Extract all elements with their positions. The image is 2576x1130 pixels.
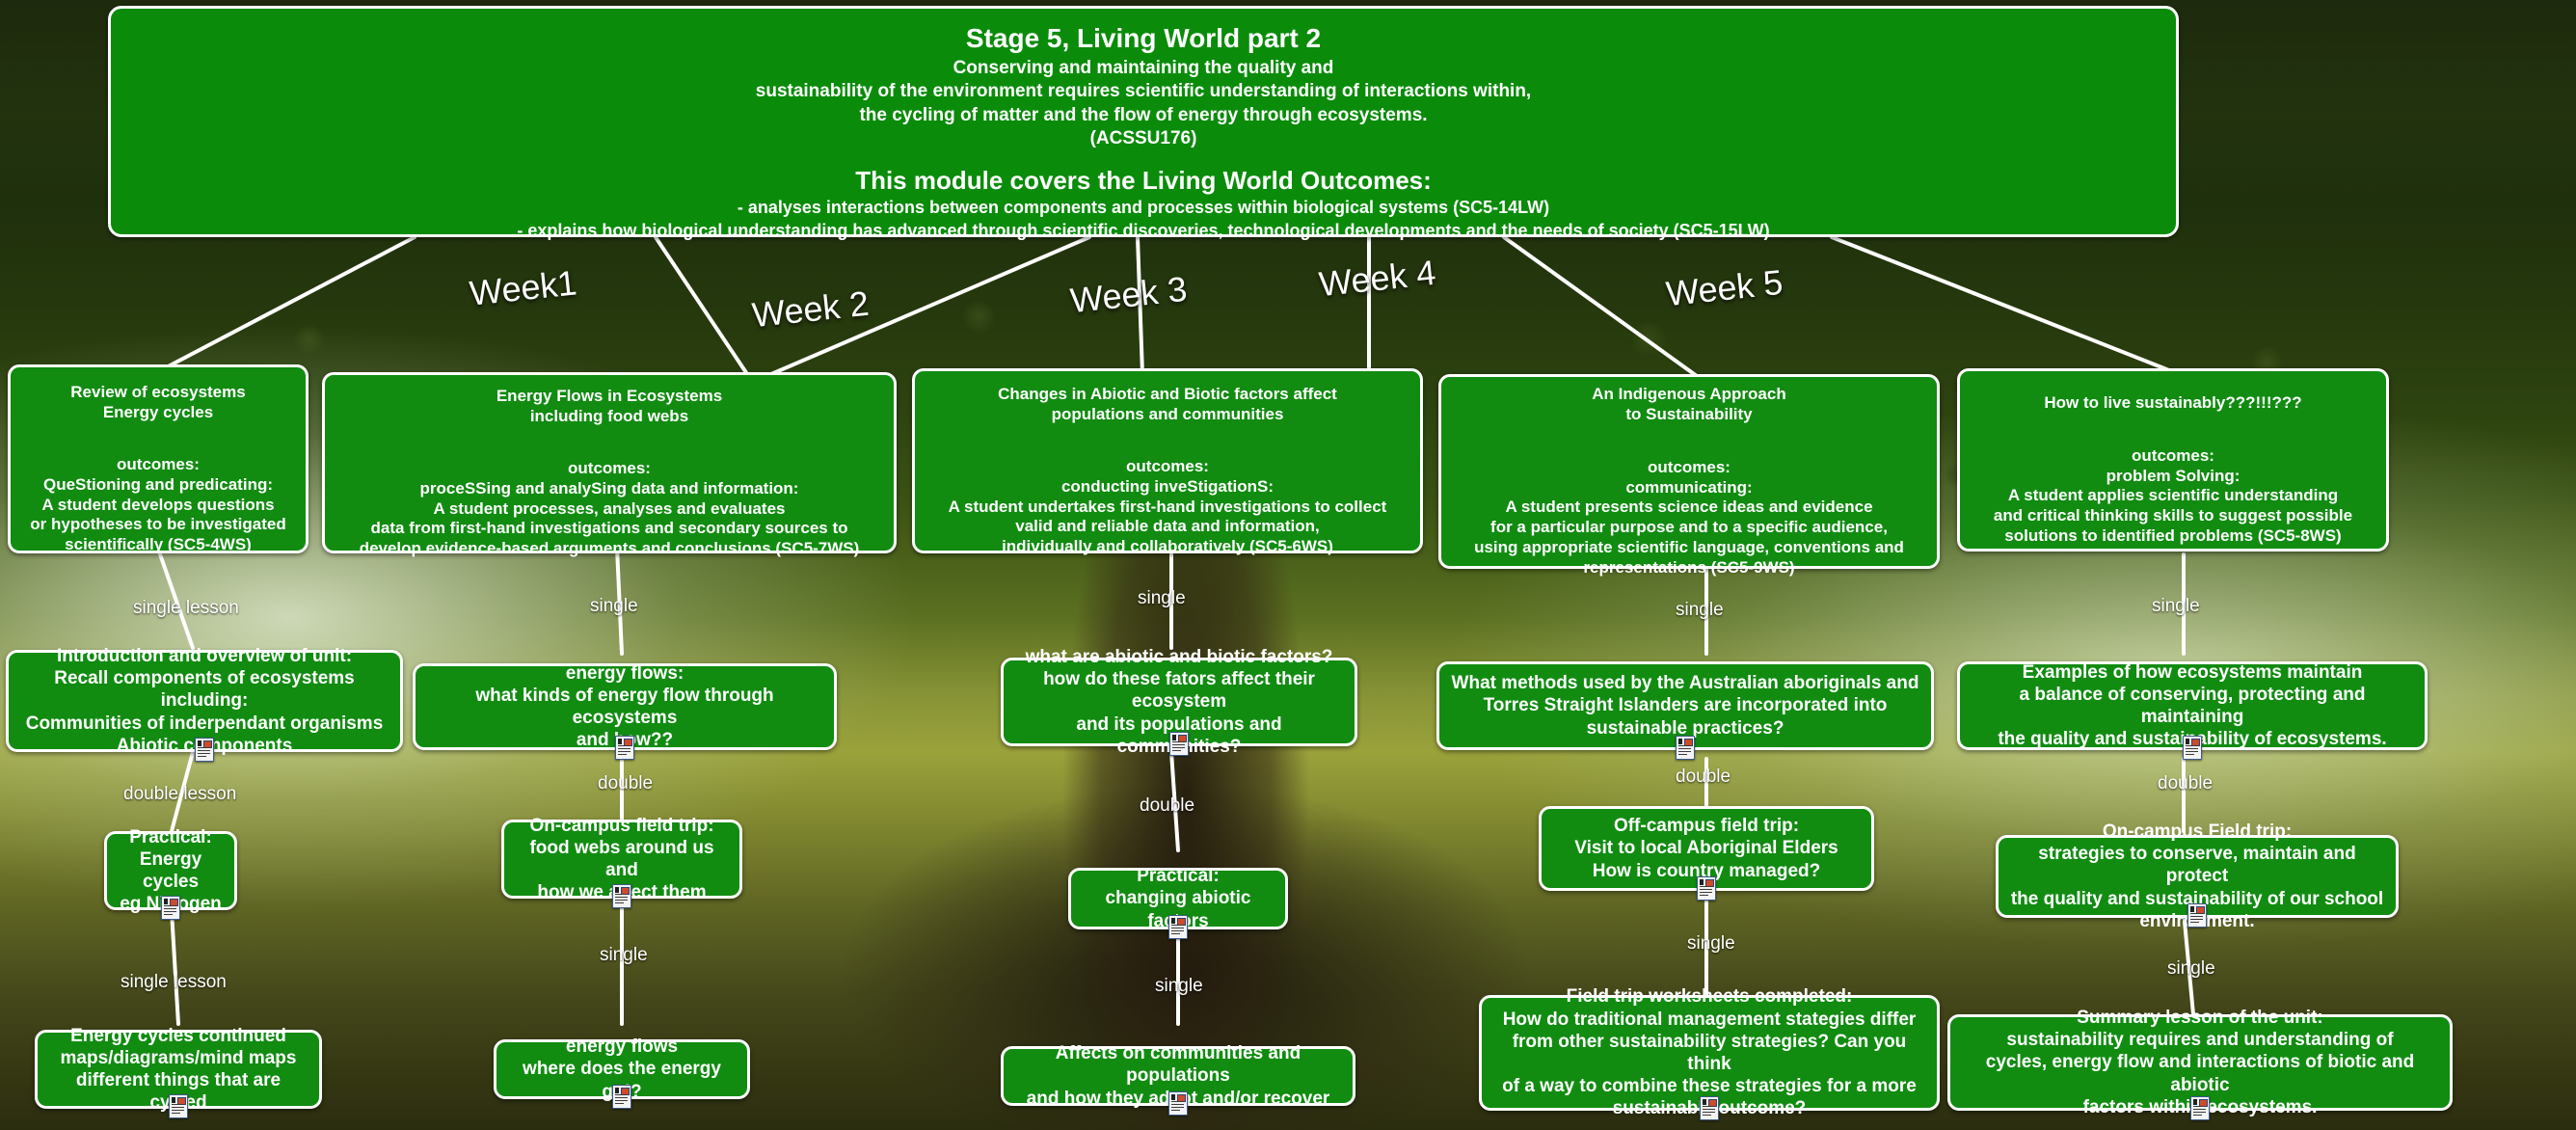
week4-lesson1-box[interactable]: What methods used by the Australian abor…	[1436, 661, 1934, 750]
week5-lesson3-box[interactable]: Summary lesson of the unit: sustainabili…	[1947, 1014, 2453, 1111]
document-icon[interactable]	[1676, 736, 1695, 760]
header-desc-line1: Conserving and maintaining the quality a…	[121, 57, 2166, 80]
week3-lesson2-box[interactable]: Practical: changing abiotic factors	[1068, 868, 1288, 929]
week3-topic-body: outcomes: conducting inveStigationS: A s…	[949, 457, 1387, 555]
week4-topic-box[interactable]: An Indigenous Approach to Sustainability…	[1438, 374, 1940, 569]
week1-lesson1-box[interactable]: Introduction and overview of unit: Recal…	[6, 650, 403, 752]
week2-topic-body: outcomes: proceSSing and analySing data …	[360, 459, 860, 557]
week3-topic-title: Changes in Abiotic and Biotic factors af…	[925, 385, 1410, 424]
header-curriculum-code: (ACSSU176)	[121, 127, 2166, 150]
week1-topic-title: Review of ecosystems Energy cycles	[20, 383, 296, 422]
week4-lesson2-text: Off-campus field trip: Visit to local Ab…	[1551, 815, 1862, 882]
document-icon[interactable]	[1700, 1096, 1719, 1120]
week5-topic-title: How to live sustainably???!!!???	[1970, 393, 2376, 414]
week4-lesson1-text: What methods used by the Australian abor…	[1449, 672, 1921, 740]
document-icon[interactable]	[2183, 736, 2202, 760]
week5-lesson1-box[interactable]: Examples of how ecosystems maintain a ba…	[1957, 661, 2428, 750]
week2-lesson3-box[interactable]: energy flows where does the energy go!?	[494, 1039, 750, 1099]
header-desc-line3: the cycling of matter and the flow of en…	[121, 104, 2166, 127]
header-desc-line2: sustainability of the environment requir…	[121, 80, 2166, 103]
week3-topic-box[interactable]: Changes in Abiotic and Biotic factors af…	[912, 368, 1423, 553]
document-icon[interactable]	[1697, 876, 1716, 901]
header-outcomes-title: This module covers the Living World Outc…	[121, 166, 2166, 197]
week2-topic-box[interactable]: Energy Flows in Ecosystems including foo…	[322, 372, 897, 553]
header-outcome-1: - analyses interactions between componen…	[121, 197, 2166, 219]
document-icon[interactable]	[612, 1085, 631, 1109]
week4-lesson3-box[interactable]: Field trip worksheets completed: How do …	[1479, 995, 1940, 1111]
header-title: Stage 5, Living World part 2	[121, 22, 2166, 55]
week4-topic-body: outcomes: communicating: A student prese…	[1474, 458, 1904, 577]
document-icon[interactable]	[612, 884, 631, 908]
document-icon[interactable]	[1168, 1091, 1188, 1116]
header-box[interactable]: Stage 5, Living World part 2 Conserving …	[108, 6, 2179, 237]
week5-lesson2-box[interactable]: On-campus Field trip: strategies to cons…	[1996, 835, 2399, 918]
week3-lesson1-box[interactable]: what are abiotic and biotic factors? how…	[1001, 658, 1357, 746]
week1-lesson2-box[interactable]: Practical: Energy cycles eg Nitrogen	[104, 831, 237, 910]
document-icon[interactable]	[2190, 1096, 2210, 1120]
week5-topic-box[interactable]: How to live sustainably???!!!???outcomes…	[1957, 368, 2389, 552]
document-icon[interactable]	[2187, 903, 2207, 928]
week4-topic-title: An Indigenous Approach to Sustainability	[1451, 385, 1927, 424]
week1-topic-body: outcomes: QueStioning and predicating: A…	[30, 455, 285, 553]
document-icon[interactable]	[615, 736, 634, 760]
week5-topic-body: outcomes: problem Solving: A student app…	[1994, 446, 2352, 545]
week3-lesson3-box[interactable]: Affects on communities and populations a…	[1001, 1046, 1355, 1106]
week4-lesson2-box[interactable]: Off-campus field trip: Visit to local Ab…	[1539, 806, 1874, 891]
header-outcome-2: - explains how biological understanding …	[121, 220, 2166, 242]
document-icon[interactable]	[161, 896, 180, 920]
week1-lesson3-box[interactable]: Energy cycles continued maps/diagrams/mi…	[35, 1030, 322, 1109]
week2-lesson1-box[interactable]: energy flows: what kinds of energy flow …	[413, 663, 837, 750]
week2-lesson2-box[interactable]: On-campus field trip: food webs around u…	[501, 820, 742, 899]
document-icon[interactable]	[169, 1094, 188, 1118]
week2-topic-title: Energy Flows in Ecosystems including foo…	[335, 387, 884, 426]
document-icon[interactable]	[1168, 915, 1188, 939]
document-icon[interactable]	[195, 738, 214, 762]
document-icon[interactable]	[1169, 732, 1189, 756]
week1-topic-box[interactable]: Review of ecosystems Energy cyclesoutcom…	[8, 364, 309, 553]
